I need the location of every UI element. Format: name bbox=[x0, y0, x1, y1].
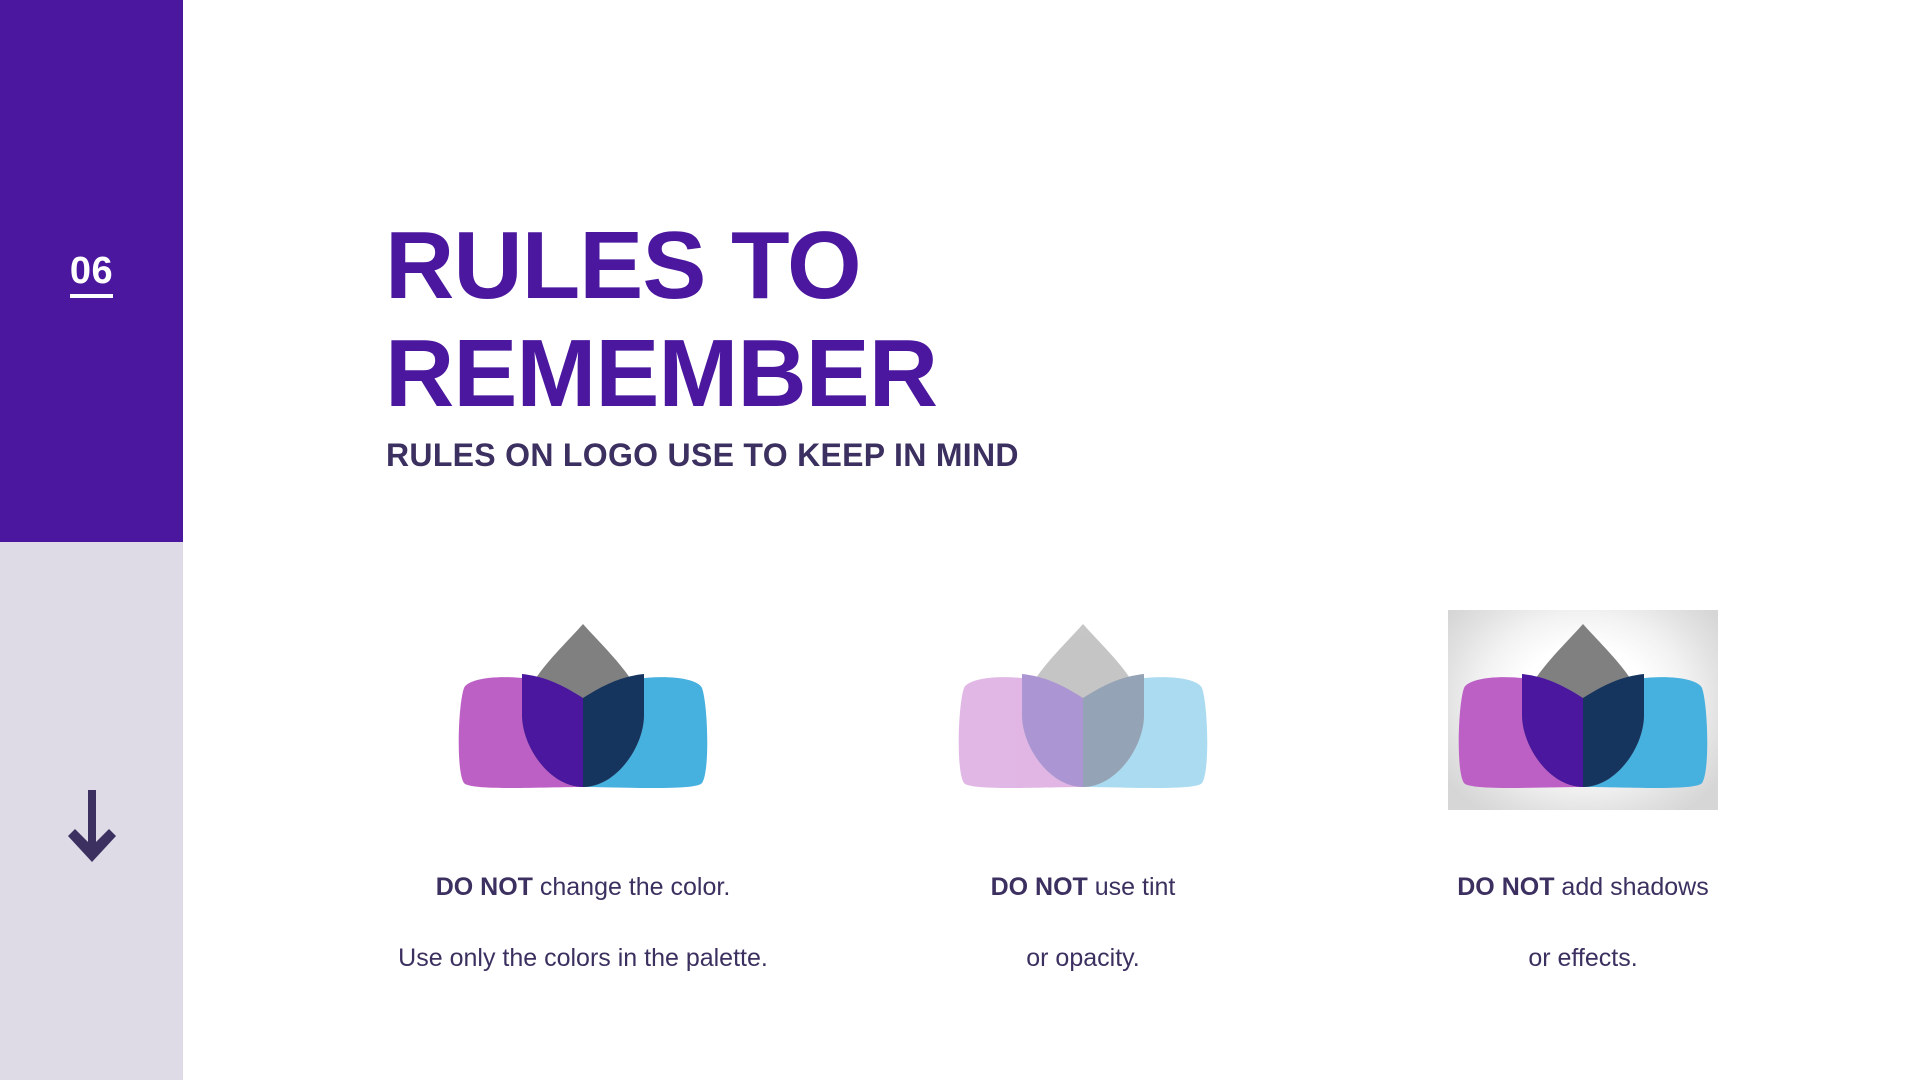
rule-caption-shadow: DO NOT add shadows or effects. bbox=[1457, 834, 1709, 976]
logo-preview-shadow bbox=[1448, 610, 1718, 810]
rule-caption-rest-3: add shadows bbox=[1554, 873, 1708, 901]
rule-card-color: DO NOT change the color. Use only the co… bbox=[333, 610, 833, 976]
rule-caption-rest-2: use tint bbox=[1088, 873, 1176, 901]
section-number-label: 06 bbox=[70, 252, 113, 298]
rule-caption-tint: DO NOT use tint or opacity. bbox=[991, 834, 1176, 976]
logo-preview-tint bbox=[948, 610, 1218, 810]
page-subtitle: RULES ON LOGO USE TO KEEP IN MIND bbox=[386, 437, 1019, 474]
scroll-down-arrow[interactable] bbox=[0, 790, 183, 864]
rule-caption-line2-2: or opacity. bbox=[1026, 944, 1139, 972]
rule-card-tint: DO NOT use tint or opacity. bbox=[833, 610, 1333, 976]
section-number: 06 bbox=[0, 252, 183, 298]
logo-preview-color bbox=[448, 610, 718, 810]
rule-caption-line2-3: or effects. bbox=[1528, 944, 1637, 972]
lotus-logo-icon bbox=[948, 610, 1218, 810]
main-content: RULES TO REMEMBER RULES ON LOGO USE TO K… bbox=[183, 0, 1920, 1080]
rule-caption-strong-1: DO NOT bbox=[436, 873, 533, 901]
sidebar: 06 bbox=[0, 0, 183, 1080]
lotus-logo-icon bbox=[1448, 610, 1718, 810]
lotus-logo-icon bbox=[448, 610, 718, 810]
page-title-line-2: REMEMBER bbox=[385, 320, 1285, 428]
page-title-line-1: RULES TO bbox=[385, 212, 1285, 320]
arrow-down-icon bbox=[66, 790, 118, 864]
rule-caption-rest-1: change the color. bbox=[533, 873, 730, 901]
rule-caption-strong-2: DO NOT bbox=[991, 873, 1088, 901]
rule-caption-color: DO NOT change the color. Use only the co… bbox=[398, 834, 768, 976]
rule-caption-strong-3: DO NOT bbox=[1457, 873, 1554, 901]
page-title: RULES TO REMEMBER bbox=[385, 212, 1285, 427]
rules-row: DO NOT change the color. Use only the co… bbox=[333, 610, 1833, 976]
rule-card-shadow: DO NOT add shadows or effects. bbox=[1333, 610, 1833, 976]
rule-caption-line2-1: Use only the colors in the palette. bbox=[398, 944, 768, 972]
